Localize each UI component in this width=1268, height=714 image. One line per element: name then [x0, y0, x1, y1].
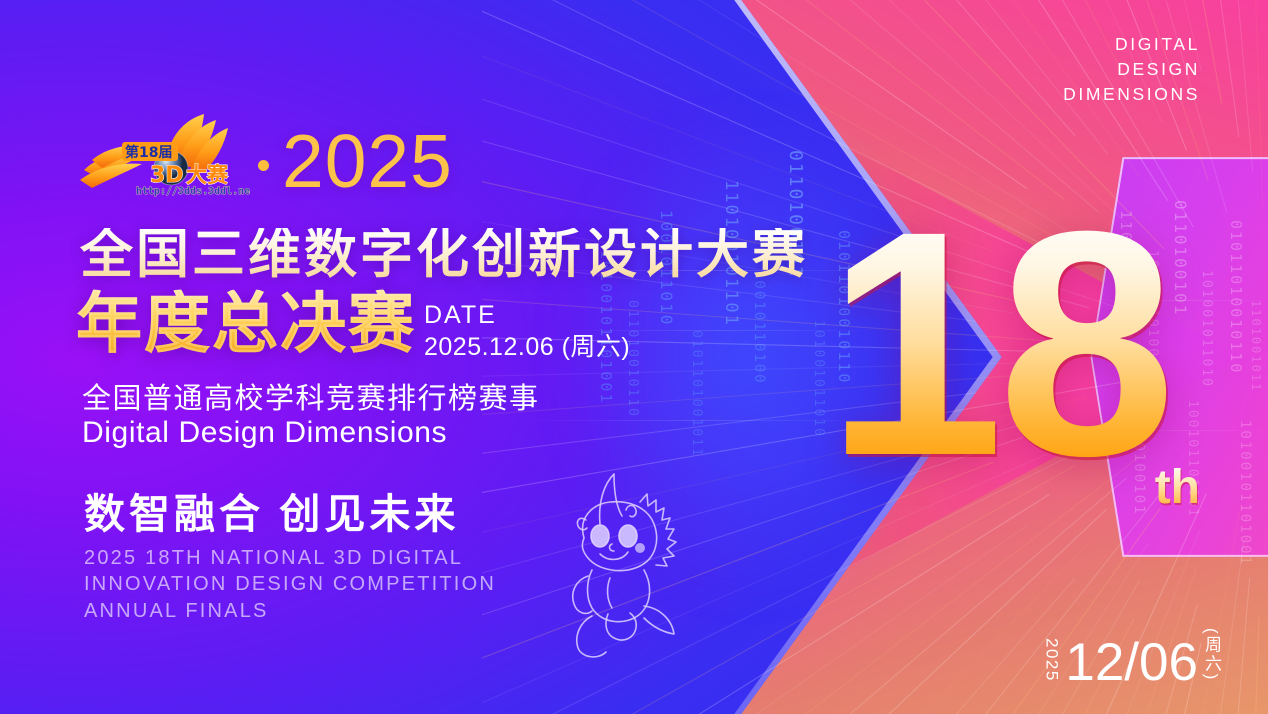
- poster-content: DIGITAL DESIGN DIMENSIONS: [0, 0, 1268, 714]
- brand-line-2: DESIGN: [1063, 57, 1200, 82]
- competition-logo-icon: 3D 大赛 第18届 http://3dds.3ddl.net: [78, 112, 250, 198]
- page-title-primary: 全国三维数字化创新设计大赛: [80, 228, 808, 281]
- date-value: 2025.12.06 (周六): [424, 331, 630, 364]
- footer-date-year: 2025: [1043, 638, 1060, 688]
- brand-line-1: DIGITAL: [1063, 32, 1200, 57]
- svg-text:3D: 3D: [150, 163, 184, 188]
- mascot-dragon-icon: [548, 466, 718, 666]
- footer-date: 2025 12/06 (周六): [1043, 628, 1220, 688]
- brand-line-3: DIMENSIONS: [1063, 82, 1200, 107]
- subtitle-english: Digital Design Dimensions: [82, 414, 447, 452]
- slogan-chinese: 数智融合 创见未来: [84, 494, 459, 535]
- event-date-block: DATE 2025.12.06 (周六): [424, 300, 630, 364]
- svg-text:第18届: 第18届: [125, 144, 172, 161]
- logo-separator-dot: [258, 160, 269, 171]
- title-secondary-row: 年度总决赛 DATE 2025.12.06 (周六): [76, 290, 630, 364]
- subtitle-chinese: 全国普通高校学科竞赛排行榜赛事: [82, 381, 540, 417]
- poster-canvas: 1010010110100101101001011010010110100101…: [0, 0, 1268, 714]
- page-title-secondary: 年度总决赛: [76, 290, 416, 356]
- brand-digital-design-dimensions: DIGITAL DESIGN DIMENSIONS: [1063, 32, 1200, 107]
- logo-row: 3D 大赛 第18届 http://3dds.3ddl.net 2025: [78, 112, 453, 198]
- logo-year: 2025: [282, 124, 453, 199]
- svg-text:http://3dds.3ddl.net: http://3dds.3ddl.net: [136, 186, 250, 197]
- footer-date-monthday: 12/06: [1065, 639, 1198, 688]
- edition-number: 18: [826, 206, 1186, 481]
- edition-number-graphic: 18 th: [826, 206, 1186, 526]
- edition-suffix: th: [1155, 464, 1200, 512]
- footer-date-weekday: (周六): [1203, 628, 1220, 688]
- slogan-english: 2025 18TH NATIONAL 3D DIGITAL INNOVATION…: [84, 545, 554, 624]
- date-label: DATE: [424, 300, 630, 331]
- svg-text:大赛: 大赛: [186, 163, 229, 187]
